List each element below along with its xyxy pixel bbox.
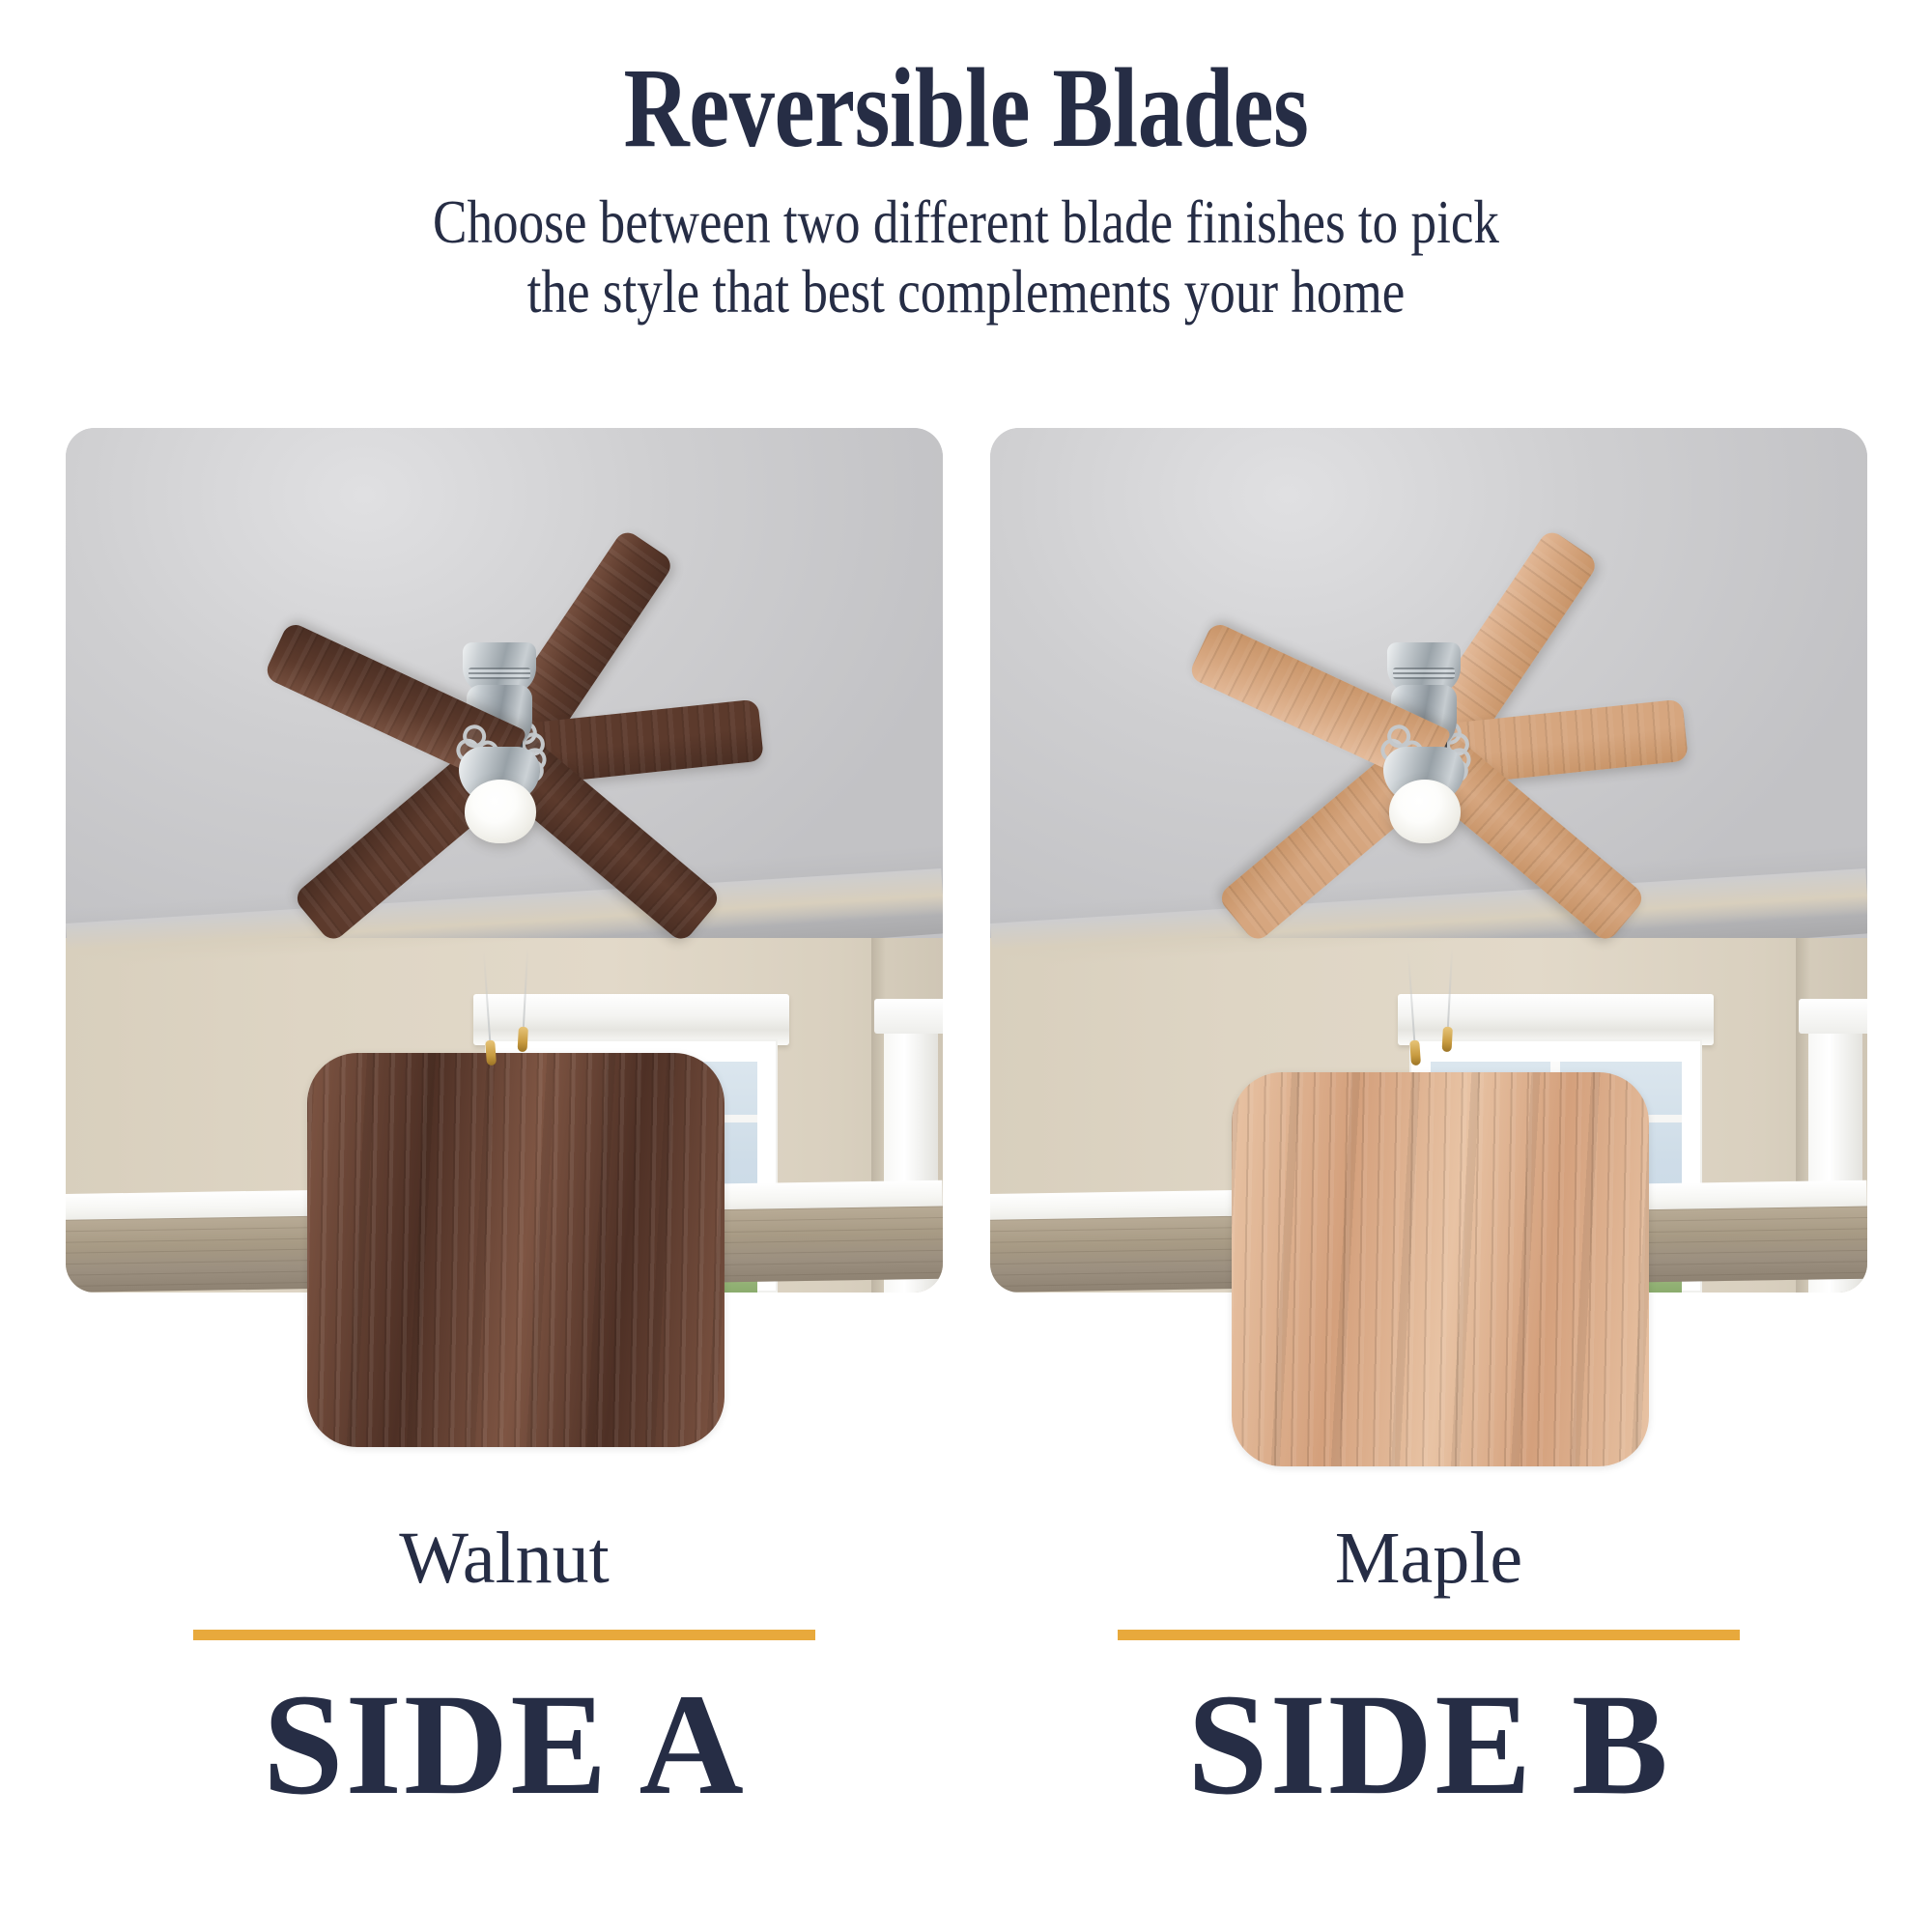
panel-side-a (66, 428, 943, 1293)
wood-finish-name-b: Maple (1042, 1521, 1815, 1595)
fan-lower-housing-group (449, 642, 550, 787)
subtitle-line-2: the style that best complements your hom… (164, 257, 1768, 327)
panel-side-b (990, 428, 1867, 1293)
wood-grain-texture (1232, 1072, 1649, 1466)
fan-light-globe (465, 780, 536, 843)
page-title: Reversible Blades (193, 50, 1739, 166)
finish-swatch-walnut (307, 1053, 724, 1447)
subtitle-line-1: Choose between two different blade finis… (164, 187, 1768, 257)
wood-grain-texture (307, 1053, 724, 1447)
wood-finish-name-a: Walnut (118, 1521, 891, 1595)
header-block: Reversible Blades Choose between two dif… (0, 50, 1932, 327)
caption-side-b: Maple SIDE B (1042, 1521, 1815, 1819)
product-feature-graphic: Reversible Blades Choose between two dif… (0, 0, 1932, 1932)
page-subtitle: Choose between two different blade finis… (164, 187, 1768, 326)
fan-lower-housing-group (1374, 642, 1474, 787)
finish-swatch-maple (1232, 1072, 1649, 1466)
side-label-b: SIDE B (1042, 1671, 1815, 1819)
gold-divider-b (1118, 1630, 1740, 1640)
gold-divider-a (193, 1630, 815, 1640)
caption-side-a: Walnut SIDE A (118, 1521, 891, 1819)
fan-light-globe (1389, 780, 1461, 843)
side-label-a: SIDE A (118, 1671, 891, 1819)
